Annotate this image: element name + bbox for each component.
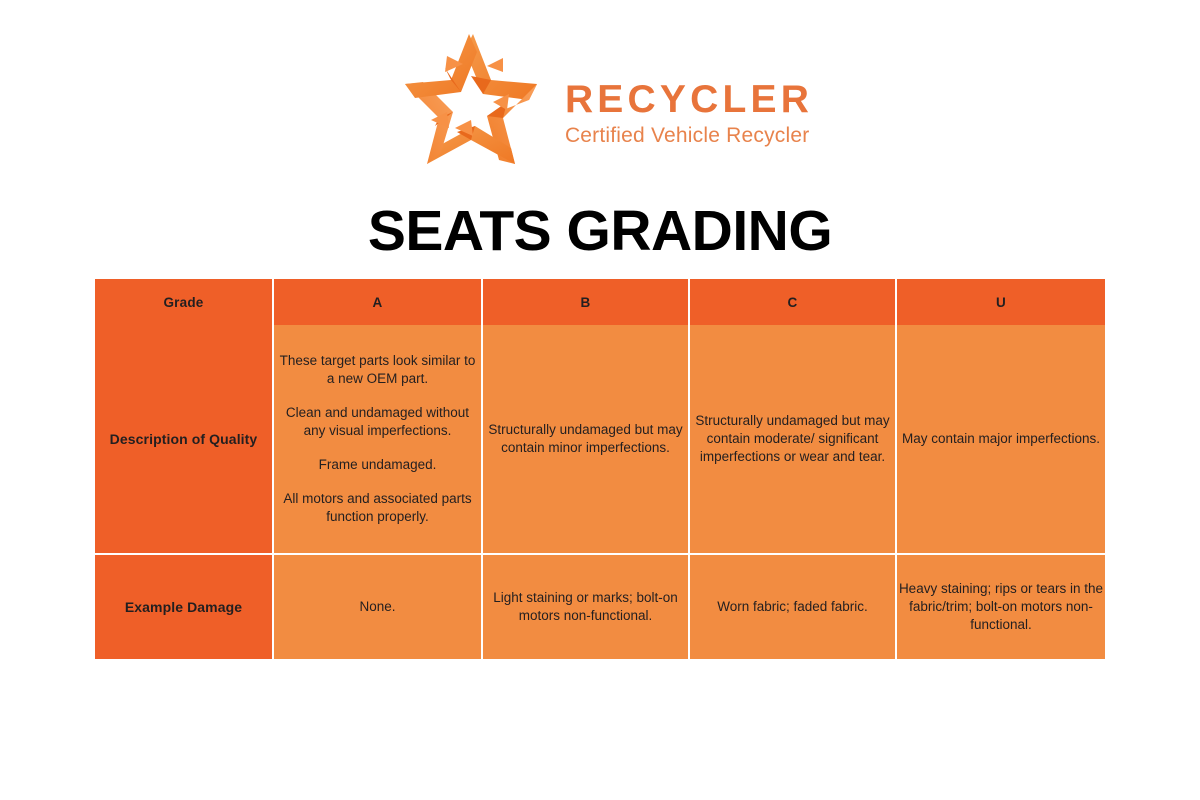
column-header-u: U — [897, 279, 1105, 325]
column-header-b: B — [483, 279, 690, 325]
table-header-row: Grade A B C U — [95, 279, 1105, 325]
seats-grading-table: Grade A B C U Description of Quality The… — [95, 279, 1105, 659]
cell-description-u: May contain major imperfections. — [897, 325, 1105, 555]
logo-title: RECYCLER — [565, 80, 813, 121]
cell-example-a: None. — [274, 555, 483, 659]
column-header-c: C — [690, 279, 897, 325]
cell-description-b: Structurally undamaged but may contain m… — [483, 325, 690, 555]
brand-logo: RECYCLER Certified Vehicle Recycler — [0, 28, 1200, 172]
cell-paragraph: May contain major imperfections. — [897, 430, 1105, 448]
cell-paragraph: Clean and undamaged without any visual i… — [274, 404, 481, 440]
cell-example-b: Light staining or marks; bolt-on motors … — [483, 555, 690, 659]
poster-canvas: RECYCLER Certified Vehicle Recycler SEAT… — [0, 0, 1200, 800]
cell-paragraph: Structurally undamaged but may contain m… — [690, 412, 895, 466]
cell-paragraph: None. — [274, 598, 481, 616]
column-header-a: A — [274, 279, 483, 325]
column-header-grade: Grade — [95, 279, 274, 325]
cell-paragraph: All motors and associated parts function… — [274, 490, 481, 526]
cell-description-a: These target parts look similar to a new… — [274, 325, 483, 555]
table-row: Example Damage None. Light staining or m… — [95, 555, 1105, 659]
cell-example-c: Worn fabric; faded fabric. — [690, 555, 897, 659]
logo-tagline: Certified Vehicle Recycler — [565, 124, 813, 148]
cell-paragraph: Worn fabric; faded fabric. — [690, 598, 895, 616]
row-label-description-of-quality: Description of Quality — [95, 325, 274, 555]
cell-example-u: Heavy staining; rips or tears in the fab… — [897, 555, 1105, 659]
cell-paragraph: Light staining or marks; bolt-on motors … — [483, 589, 688, 625]
cell-paragraph: Structurally undamaged but may contain m… — [483, 421, 688, 457]
table-row: Description of Quality These target part… — [95, 325, 1105, 555]
cell-paragraph: These target parts look similar to a new… — [274, 352, 481, 388]
recycling-star-icon — [387, 28, 555, 172]
cell-paragraph: Heavy staining; rips or tears in the fab… — [897, 580, 1105, 634]
cell-paragraph: Frame undamaged. — [274, 456, 481, 474]
row-label-example-damage: Example Damage — [95, 555, 274, 659]
cell-description-c: Structurally undamaged but may contain m… — [690, 325, 897, 555]
page-title: SEATS GRADING — [0, 198, 1200, 264]
